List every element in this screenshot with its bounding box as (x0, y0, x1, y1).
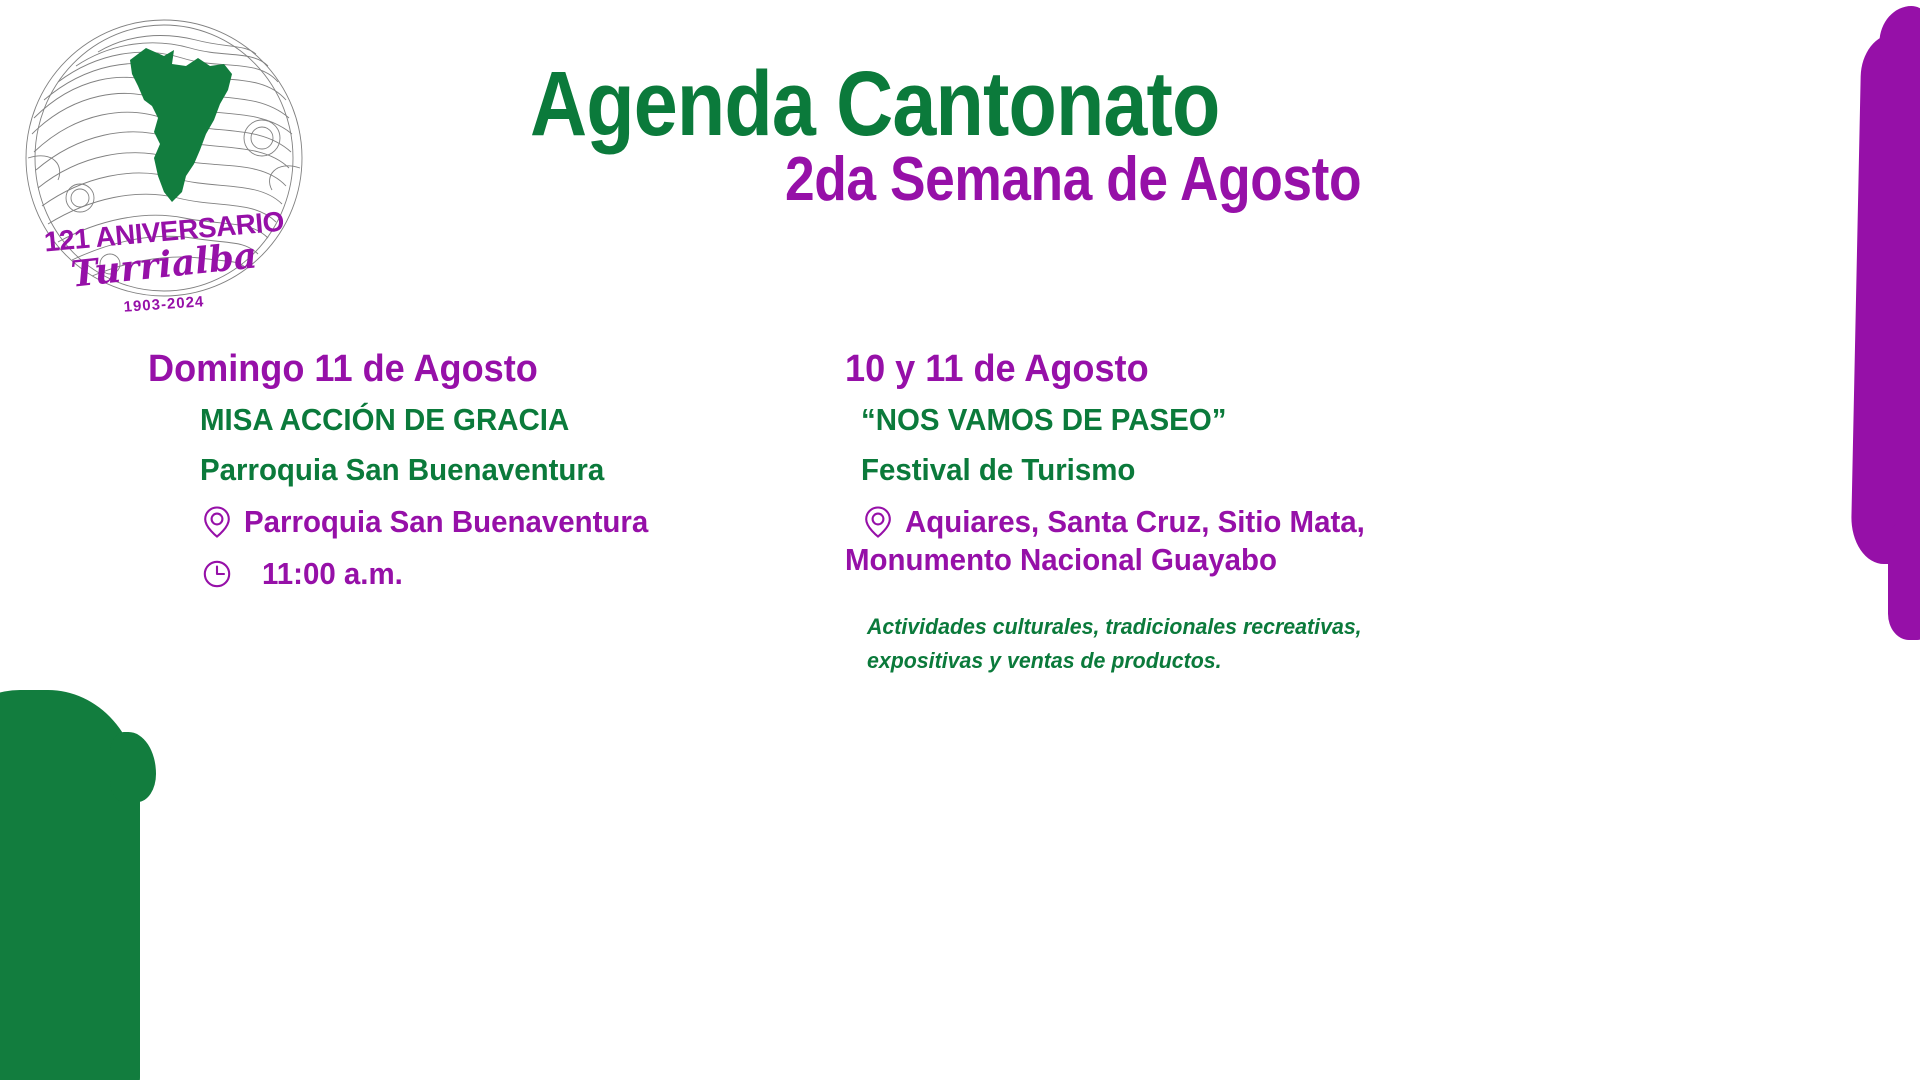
turrialba-map-silhouette-icon (130, 48, 232, 202)
event-date: Domingo 11 de Agosto (148, 348, 766, 391)
page-subtitle: 2da Semana de Agosto (785, 149, 1409, 211)
event-location-text: Parroquia San Buenaventura (244, 504, 648, 540)
clock-icon (200, 557, 234, 591)
event-note: Actividades culturales, tradicionales re… (867, 610, 1505, 678)
event-location-row: Aquiares, Santa Cruz, Sitio Mata, (861, 504, 1525, 540)
event-name: MISA ACCIÓN DE GRACIA (200, 402, 768, 438)
event-time-row: 11:00 a.m. (200, 556, 798, 592)
anniversary-logo: 121 ANIVERSARIO Turrialba 1903-2024 (14, 8, 314, 308)
event-time-text: 11:00 a.m. (262, 556, 403, 592)
event-venue: Parroquia San Buenaventura (200, 452, 768, 488)
event-location-text-continued: Monumento Nacional Guayabo (845, 542, 1491, 578)
event-venue: Festival de Turismo (861, 452, 1492, 488)
event-note-line2: expositivas y ventas de productos. (867, 644, 1505, 678)
header-title-block: Agenda Cantonato 2da Semana de Agosto (500, 62, 1510, 211)
event-card-festival: 10 y 11 de Agosto “NOS VAMOS DE PASEO” F… (845, 348, 1525, 678)
map-pin-icon (861, 505, 895, 539)
map-pin-icon (200, 505, 234, 539)
event-card-misa: Domingo 11 de Agosto MISA ACCIÓN DE GRAC… (148, 348, 798, 592)
purple-blob-right-lower-decoration (1888, 520, 1920, 640)
event-location-row: Parroquia San Buenaventura (200, 504, 798, 540)
page-title: Agenda Cantonato (530, 62, 1373, 147)
green-blob-bottom-left-decoration (0, 690, 140, 1080)
poster-canvas: 121 ANIVERSARIO Turrialba 1903-2024 Agen… (0, 0, 1920, 1080)
event-location-text: Aquiares, Santa Cruz, Sitio Mata, (905, 504, 1365, 540)
event-date: 10 y 11 de Agosto (845, 348, 1491, 391)
purple-blob-right-decoration (1850, 34, 1920, 564)
event-name: “NOS VAMOS DE PASEO” (861, 402, 1492, 438)
event-note-line1: Actividades culturales, tradicionales re… (867, 610, 1505, 644)
